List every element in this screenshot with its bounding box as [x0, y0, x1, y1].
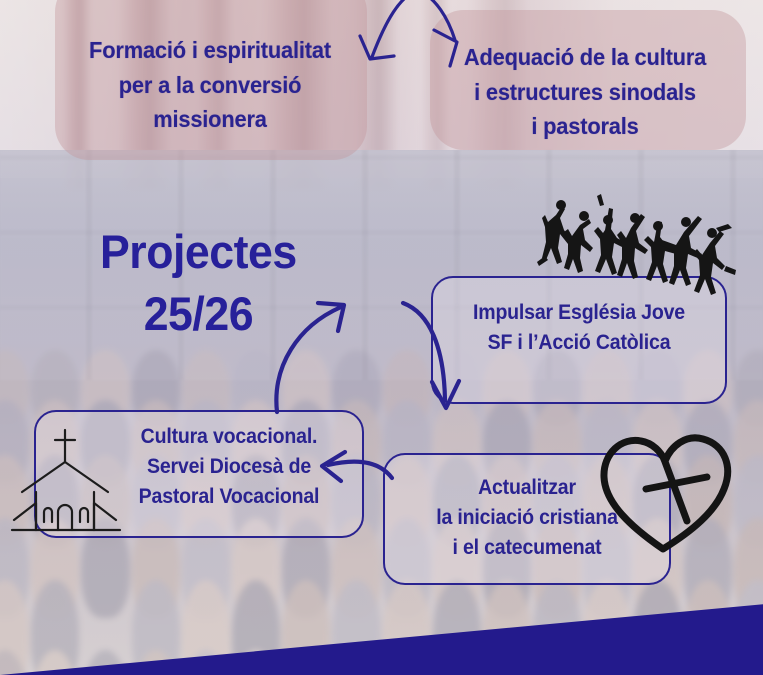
- adequacio-line-2: i estructures sinodals: [432, 75, 739, 110]
- impulsar-esglesia-jove-label: Impulsar Església Jove SF i l’Acció Catò…: [437, 298, 722, 358]
- formacio-line-1: Formació i espiritualitat: [52, 33, 368, 68]
- cultura-vocacional-label: Cultura vocacional. Servei Diocesà de Pa…: [105, 422, 352, 511]
- adequacio-line-1: Adequació de la cultura: [432, 40, 739, 75]
- actualitzar-line-3: i el catecumenat: [388, 533, 665, 563]
- impulsar-line-2: SF i l’Acció Catòlica: [437, 328, 722, 358]
- actualitzar-label: Actualitzar la iniciació cristiana i el …: [388, 473, 665, 562]
- adequacio-cultura-label: Adequació de la cultura i estructures si…: [432, 40, 739, 144]
- actualitzar-line-2: la iniciació cristiana: [388, 503, 665, 533]
- formacio-espiritualitat-label: Formació i espiritualitat per a la conve…: [52, 33, 368, 137]
- page-title: Projectes 25/26: [100, 228, 297, 337]
- adequacio-line-3: i pastorals: [432, 109, 739, 144]
- actualitzar-line-1: Actualitzar: [388, 473, 665, 503]
- cultura-line-2: Servei Diocesà de: [105, 452, 352, 482]
- title-line-2: 25/26: [144, 290, 297, 337]
- cultura-line-1: Cultura vocacional.: [105, 422, 352, 452]
- impulsar-line-1: Impulsar Església Jove: [437, 298, 722, 328]
- poster-canvas: Formació i espiritualitat per a la conve…: [0, 0, 763, 675]
- formacio-line-3: missionera: [52, 102, 368, 137]
- title-line-1: Projectes: [100, 225, 297, 278]
- cultura-line-3: Pastoral Vocacional: [105, 482, 352, 512]
- formacio-line-2: per a la conversió: [52, 68, 368, 103]
